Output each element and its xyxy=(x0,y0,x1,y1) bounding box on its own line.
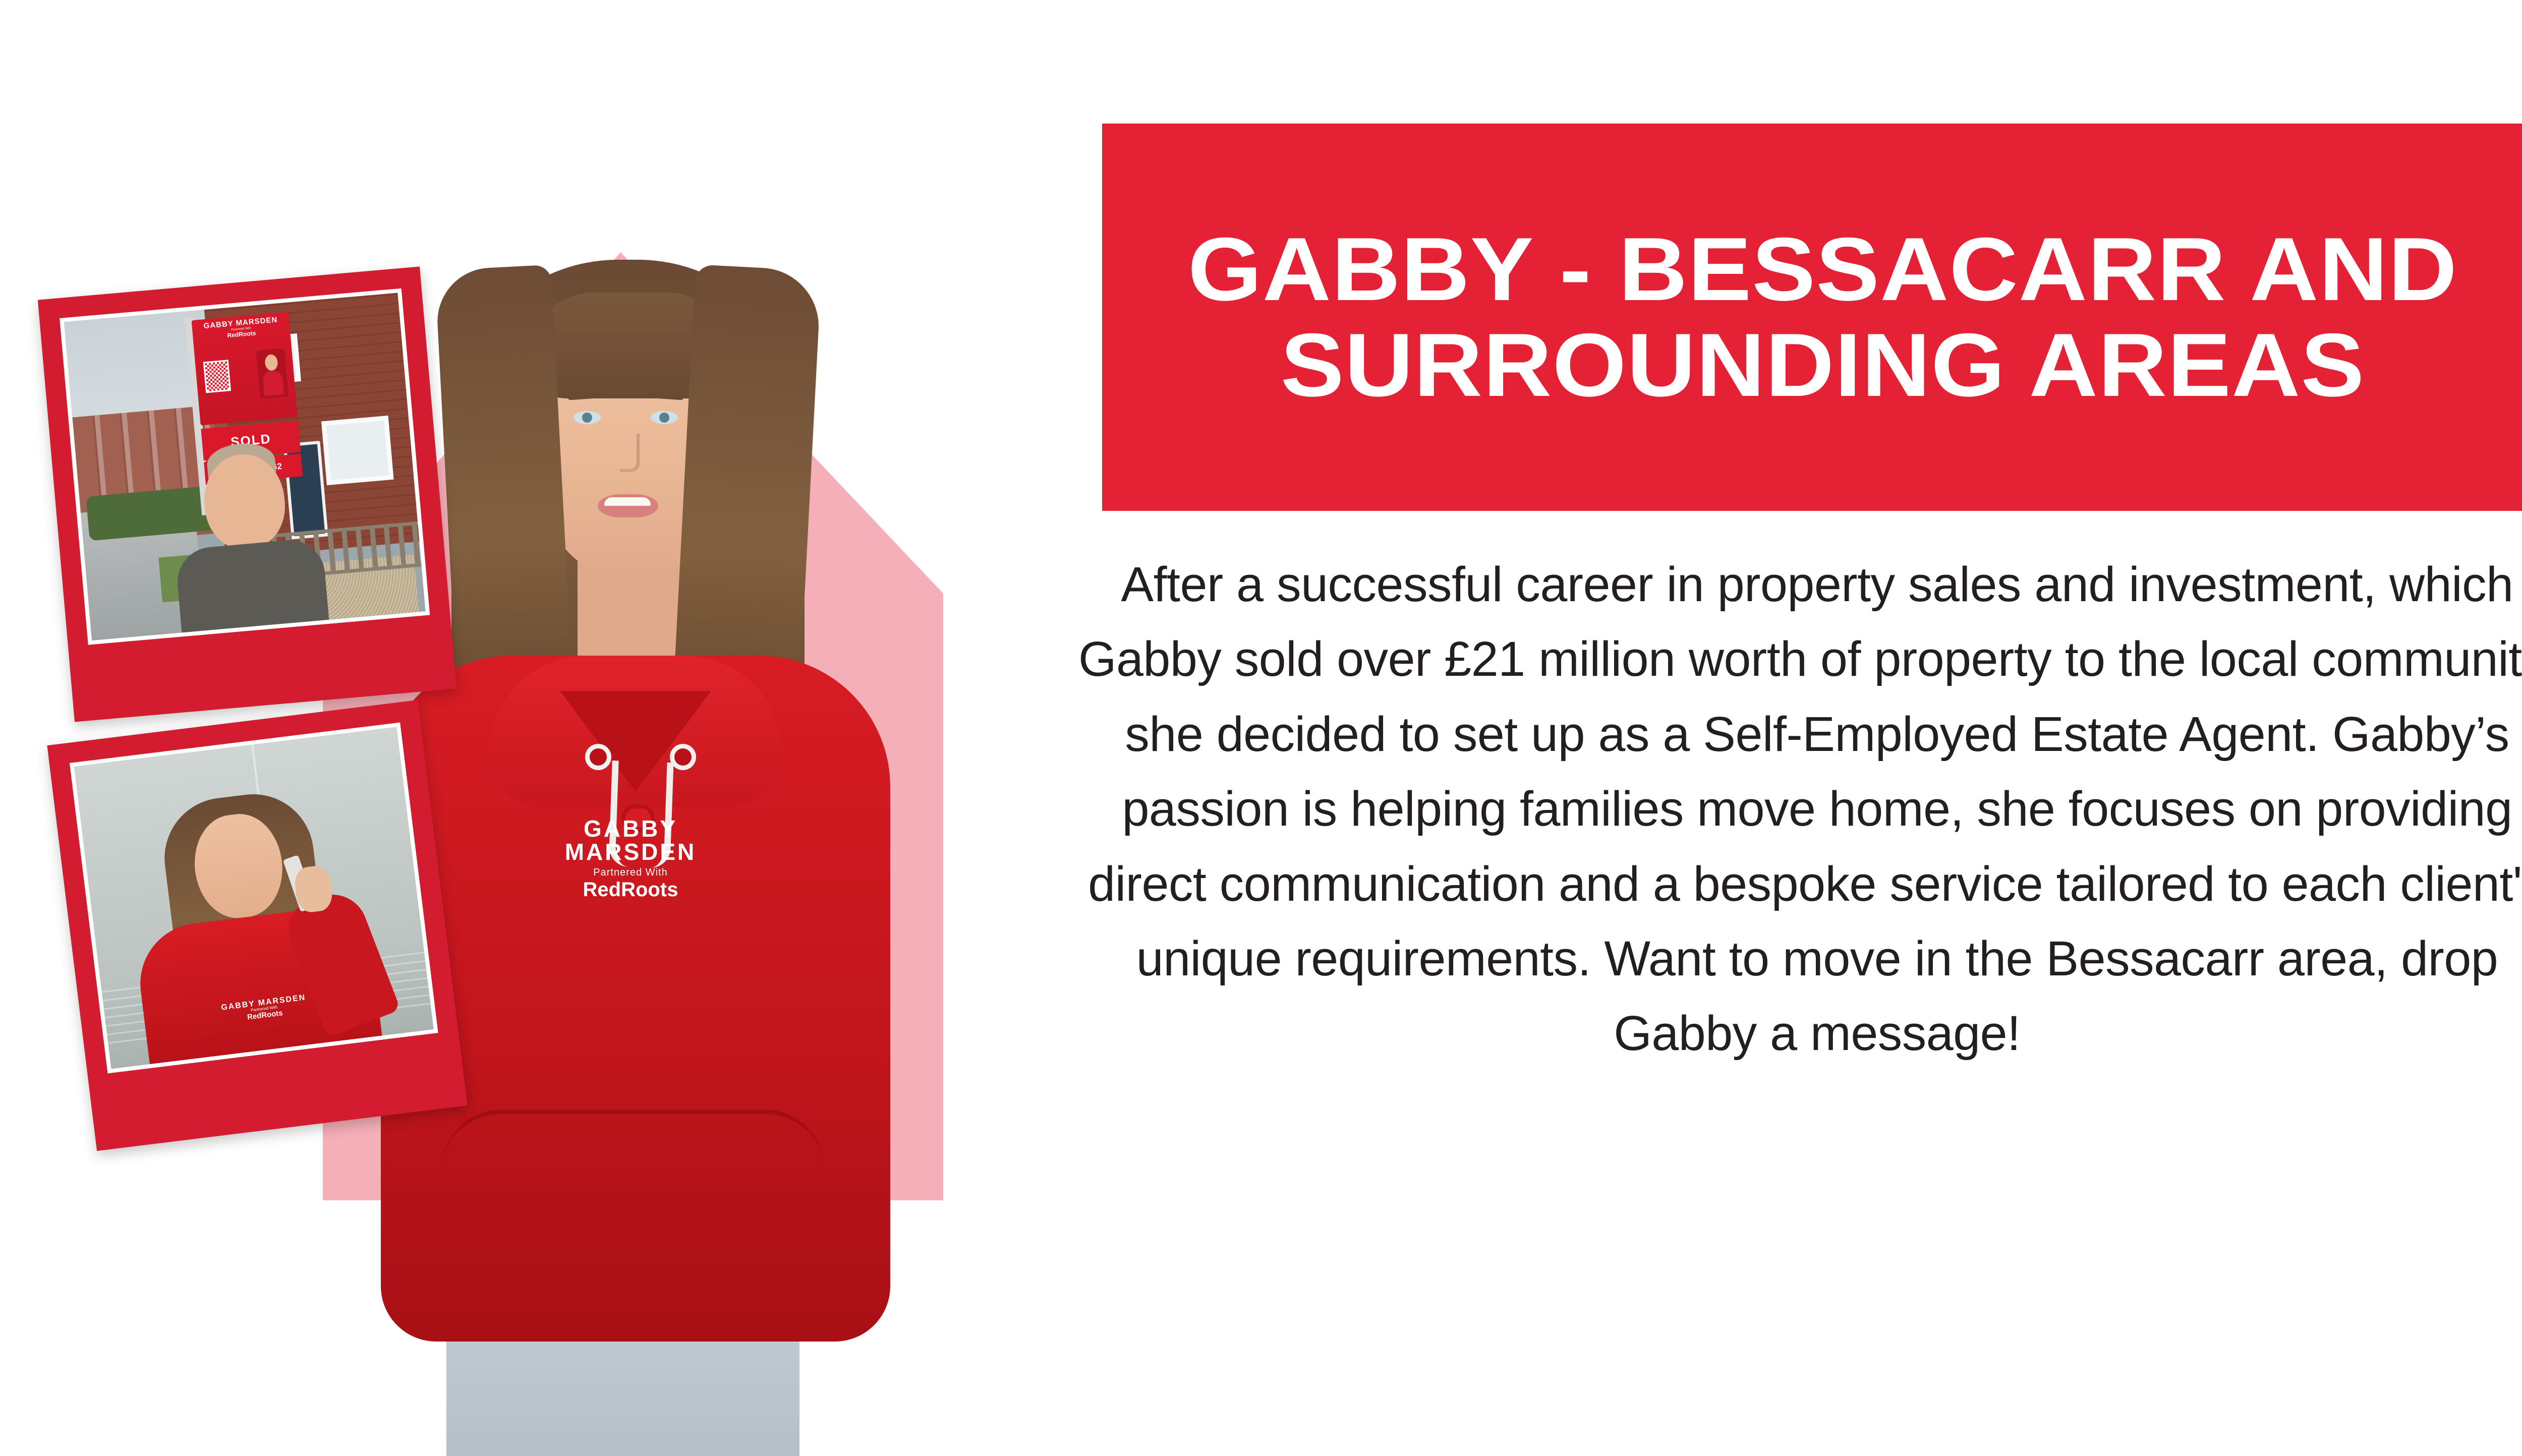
text-column: GABBY - BESSACARR AND SURROUNDING AREAS … xyxy=(1039,0,2522,1456)
agent-tshirt xyxy=(175,537,329,632)
nose xyxy=(619,434,640,472)
estate-agent-board: GABBY MARSDEN Partnered With RedRoots xyxy=(192,312,298,426)
body-paragraph: After a successful career in property sa… xyxy=(1064,547,2522,1071)
board-agent-photo xyxy=(256,348,289,399)
hoodie-eyelet-left xyxy=(585,744,611,770)
photo-window: GABBY MARSDEN Partnered With RedRoots SO… xyxy=(60,288,430,645)
photo-composition: GABBY MARSDEN Partnered With RedRoots xyxy=(0,0,1039,1456)
polaroid-photo-sold-sign[interactable]: GABBY MARSDEN Partnered With RedRoots SO… xyxy=(38,266,456,722)
title-banner: GABBY - BESSACARR AND SURROUNDING AREAS xyxy=(1102,124,2522,511)
hoodie-logo: GABBY MARSDEN Partnered With RedRoots xyxy=(525,817,736,900)
hoodie-logo-brand: RedRoots xyxy=(525,880,736,900)
hoodie-pocket xyxy=(441,1110,825,1230)
slide-canvas: GABBY MARSDEN Partnered With RedRoots xyxy=(0,0,2522,1456)
hoodie-eyelet-right xyxy=(670,744,696,770)
eye-right xyxy=(651,411,678,424)
hoodie-logo-partnered: Partnered With xyxy=(525,867,736,878)
hoodie-logo-name: GABBY MARSDEN xyxy=(525,817,736,863)
qr-code-icon xyxy=(203,360,231,393)
page-title: GABBY - BESSACARR AND SURROUNDING AREAS xyxy=(1091,221,2522,414)
photo-window: GABBY MARSDEN Partnered With RedRoots xyxy=(70,723,438,1074)
teeth xyxy=(604,497,651,506)
eye-left xyxy=(574,411,601,424)
polaroid-photo-on-phone[interactable]: GABBY MARSDEN Partnered With RedRoots xyxy=(47,700,467,1151)
house-window-1 xyxy=(321,416,393,485)
agent-selfie xyxy=(163,447,332,633)
